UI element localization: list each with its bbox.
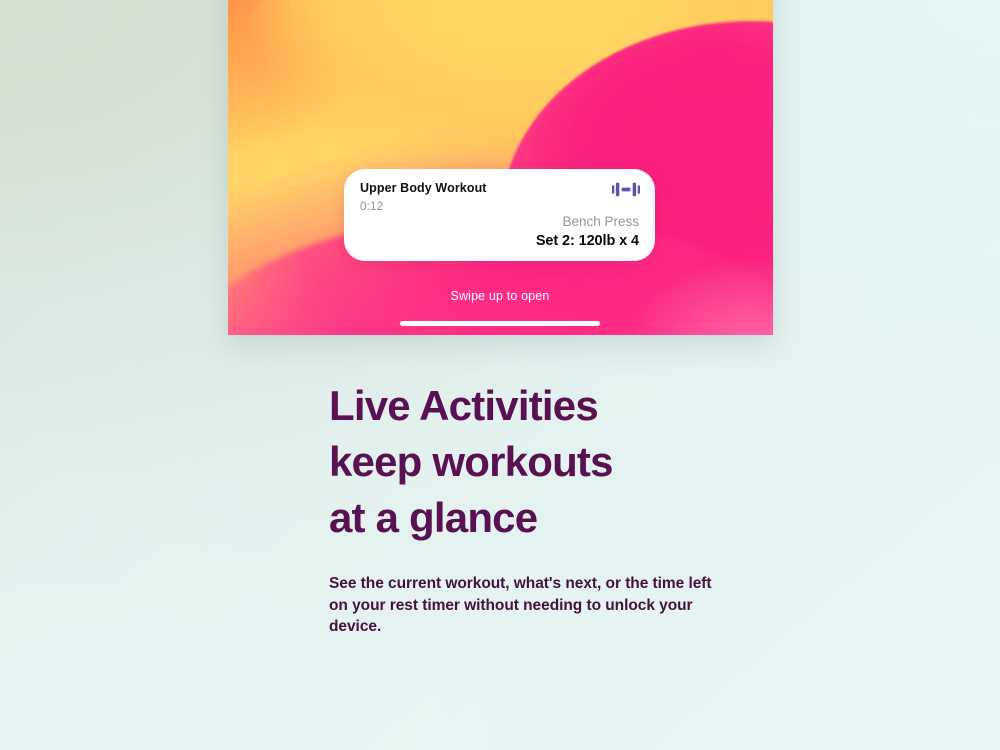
- headline-line-2: keep workouts: [329, 438, 613, 485]
- dumbbell-icon: [612, 182, 640, 197]
- headline-line-3: at a glance: [329, 494, 537, 541]
- headline-line-1: Live Activities: [329, 382, 598, 429]
- home-indicator[interactable]: [400, 321, 600, 326]
- live-activity-card[interactable]: Upper Body Workout 0:12 Bench Press Set …: [344, 169, 655, 261]
- phone-lock-screen: [228, 0, 773, 335]
- live-activity-set-detail: Set 2: 120lb x 4: [536, 233, 639, 249]
- live-activity-timer: 0:12: [360, 199, 383, 213]
- live-activity-exercise-name: Bench Press: [562, 214, 639, 229]
- page-subcopy: See the current workout, what's next, or…: [329, 546, 729, 638]
- page-headline: Live Activities keep workouts at a glanc…: [329, 378, 759, 546]
- swipe-up-hint: Swipe up to open: [0, 289, 1000, 303]
- marketing-copy-block: Live Activities keep workouts at a glanc…: [329, 378, 759, 638]
- live-activity-title: Upper Body Workout: [360, 181, 487, 195]
